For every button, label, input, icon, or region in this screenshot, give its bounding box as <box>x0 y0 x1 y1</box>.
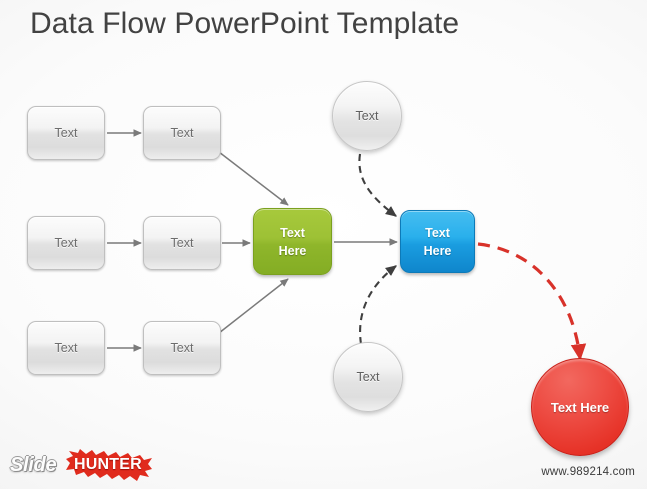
slidehunter-logo: Slide HUNTER <box>8 446 158 484</box>
node-blue-hub-line2: Here <box>424 242 452 260</box>
node-circle-bottom[interactable]: Text <box>333 342 403 412</box>
connector-blue-to-red <box>478 244 580 358</box>
node-green-hub-line1: Text <box>280 224 305 242</box>
connector-row1-right-to-green <box>219 152 288 205</box>
node-red-result-label: Text Here <box>551 400 609 415</box>
connector-circle-top-to-blue <box>359 154 396 216</box>
node-red-result[interactable]: Text Here <box>531 358 629 456</box>
node-row3-right-label: Text <box>171 341 194 355</box>
connector-circle-bottom-to-blue <box>360 266 396 344</box>
node-blue-hub[interactable]: Text Here <box>400 210 475 273</box>
node-row2-right-label: Text <box>171 236 194 250</box>
slide-canvas: Data Flow PowerPoint Template <box>0 0 647 489</box>
node-row2-left-label: Text <box>55 236 78 250</box>
node-green-hub[interactable]: Text Here <box>253 208 332 275</box>
connector-row3-right-to-green <box>219 279 288 333</box>
node-row2-right[interactable]: Text <box>143 216 221 270</box>
node-row1-right[interactable]: Text <box>143 106 221 160</box>
node-row1-left[interactable]: Text <box>27 106 105 160</box>
logo-hunter-word: HUNTER <box>74 456 142 474</box>
node-row2-left[interactable]: Text <box>27 216 105 270</box>
node-circle-top-label: Text <box>356 109 379 123</box>
footer-url: www.989214.com <box>541 466 635 478</box>
node-circle-bottom-label: Text <box>357 370 380 384</box>
node-row3-left-label: Text <box>55 341 78 355</box>
node-row3-right[interactable]: Text <box>143 321 221 375</box>
node-row3-left[interactable]: Text <box>27 321 105 375</box>
logo-slide-word: Slide <box>10 454 56 477</box>
node-green-hub-line2: Here <box>279 242 307 260</box>
node-blue-hub-line1: Text <box>425 224 450 242</box>
node-row1-right-label: Text <box>171 126 194 140</box>
page-title: Data Flow PowerPoint Template <box>30 2 459 46</box>
node-row1-left-label: Text <box>55 126 78 140</box>
node-circle-top[interactable]: Text <box>332 81 402 151</box>
